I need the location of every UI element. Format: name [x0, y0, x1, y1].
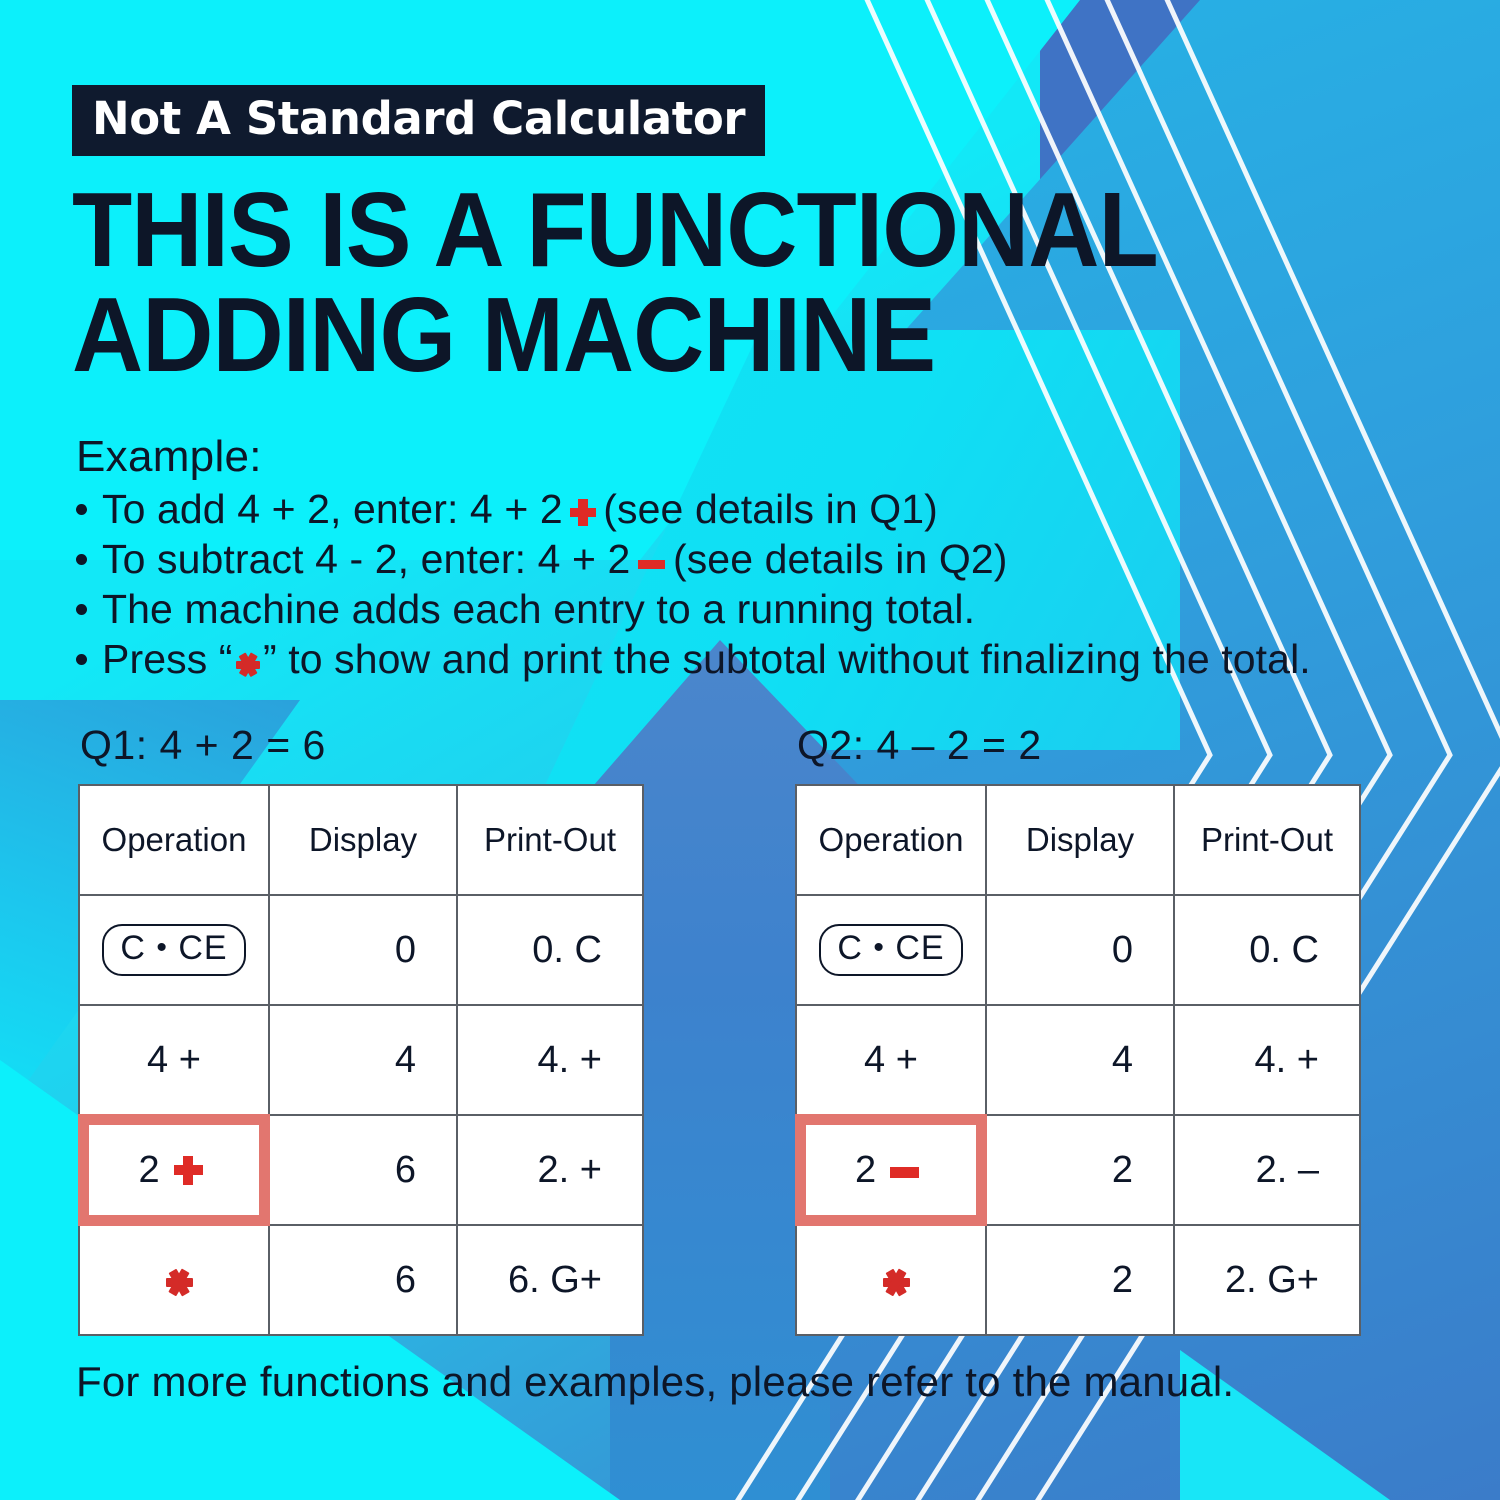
operation-cell: 4 + [796, 1005, 986, 1115]
operation-content: 4 + [864, 1039, 918, 1081]
printout-cell: 0. C [1174, 895, 1360, 1005]
display-cell: 4 [269, 1005, 457, 1115]
column-header-display: Display [986, 785, 1174, 895]
example-bullet-item: To subtract 4 - 2, enter: 4 + 2(see deta… [76, 534, 1456, 584]
example-bullet-text: To add 4 + 2, enter: 4 + 2(see details i… [102, 484, 938, 534]
table-row: 22. G+ [796, 1225, 1360, 1335]
example-bullet-text: The machine adds each entry to a running… [102, 584, 975, 634]
operation-cell: 4 + [79, 1005, 269, 1115]
display-cell: 6 [269, 1115, 457, 1225]
example-bullet-text: To subtract 4 - 2, enter: 4 + 2(see deta… [102, 534, 1008, 584]
table-row: C • CE00. C [796, 895, 1360, 1005]
printout-cell: 2. + [457, 1115, 643, 1225]
asterisk-icon [166, 1269, 193, 1296]
badge-label: Not A Standard Calculator [92, 92, 745, 145]
calculation-table-q1: OperationDisplayPrint-OutC • CE00. C4 +4… [78, 784, 644, 1336]
clear-ce-button[interactable]: C • CE [819, 924, 962, 976]
display-cell: 2 [986, 1225, 1174, 1335]
printout-cell: 0. C [457, 895, 643, 1005]
printout-cell: 4. + [1174, 1005, 1360, 1115]
operation-content [152, 1259, 196, 1301]
bullet-dot-icon [76, 654, 102, 665]
operation-content [869, 1259, 913, 1301]
operation-content: C • CE [819, 926, 962, 968]
column-header-display: Display [269, 785, 457, 895]
operation-cell: C • CE [796, 895, 986, 1005]
table-title-q2: Q2: 4 – 2 = 2 [797, 722, 1042, 769]
operation-content: 4 + [147, 1039, 201, 1081]
column-header-operation: Operation [79, 785, 269, 895]
asterisk-icon [236, 653, 260, 677]
column-header-print-out: Print-Out [457, 785, 643, 895]
page-title: THIS IS A FUNCTIONAL ADDING MACHINE [72, 178, 1309, 388]
printout-cell: 4. + [457, 1005, 643, 1115]
operation-cell: C • CE [79, 895, 269, 1005]
operation-cell: 2 [796, 1115, 986, 1225]
display-cell: 0 [986, 895, 1174, 1005]
example-bullet-text: Press “” to show and print the subtotal … [102, 634, 1311, 684]
operation-cell [796, 1225, 986, 1335]
bullet-dot-icon [76, 504, 102, 515]
dot-separator-icon: • [156, 931, 168, 964]
table-header-row: OperationDisplayPrint-Out [79, 785, 643, 895]
poster-canvas: Not A Standard Calculator THIS IS A FUNC… [0, 0, 1500, 1500]
dot-separator-icon: • [873, 931, 885, 964]
plus-icon [174, 1156, 203, 1185]
operation-cell: 2 [79, 1115, 269, 1225]
table-row: 4 +44. + [79, 1005, 643, 1115]
clear-ce-button[interactable]: C • CE [102, 924, 245, 976]
example-bullet-item: The machine adds each entry to a running… [76, 584, 1456, 634]
example-bullet-list: To add 4 + 2, enter: 4 + 2(see details i… [76, 484, 1456, 684]
example-bullet-item: To add 4 + 2, enter: 4 + 2(see details i… [76, 484, 1456, 534]
display-cell: 0 [269, 895, 457, 1005]
bullet-dot-icon [76, 554, 102, 565]
operation-content: 2 [855, 1149, 927, 1191]
table-row: 66. G+ [79, 1225, 643, 1335]
bullet-dot-icon [76, 604, 102, 615]
table-row: 262. + [79, 1115, 643, 1225]
operation-content: 2 [138, 1149, 209, 1191]
display-cell: 4 [986, 1005, 1174, 1115]
printout-cell: 6. G+ [457, 1225, 643, 1335]
display-cell: 2 [986, 1115, 1174, 1225]
asterisk-icon [883, 1269, 910, 1296]
minus-icon [638, 560, 665, 569]
calculation-table-q2: OperationDisplayPrint-OutC • CE00. C4 +4… [795, 784, 1361, 1336]
operation-cell [79, 1225, 269, 1335]
badge-not-a-standard-calculator: Not A Standard Calculator [72, 85, 765, 156]
printout-cell: 2. G+ [1174, 1225, 1360, 1335]
example-label: Example: [76, 432, 262, 482]
footer-note: For more functions and examples, please … [76, 1358, 1234, 1406]
table-row: C • CE00. C [79, 895, 643, 1005]
plus-icon [570, 499, 597, 526]
column-header-operation: Operation [796, 785, 986, 895]
table-row: 222. – [796, 1115, 1360, 1225]
column-header-print-out: Print-Out [1174, 785, 1360, 895]
table-title-q1: Q1: 4 + 2 = 6 [80, 722, 326, 769]
page-title-line1: THIS IS A FUNCTIONAL [72, 171, 1158, 289]
display-cell: 6 [269, 1225, 457, 1335]
table-header-row: OperationDisplayPrint-Out [796, 785, 1360, 895]
table-row: 4 +44. + [796, 1005, 1360, 1115]
printout-cell: 2. – [1174, 1115, 1360, 1225]
operation-content: C • CE [102, 926, 245, 968]
example-bullet-item: Press “” to show and print the subtotal … [76, 634, 1456, 684]
minus-icon [890, 1167, 919, 1177]
page-title-line2: ADDING MACHINE [72, 283, 1309, 388]
